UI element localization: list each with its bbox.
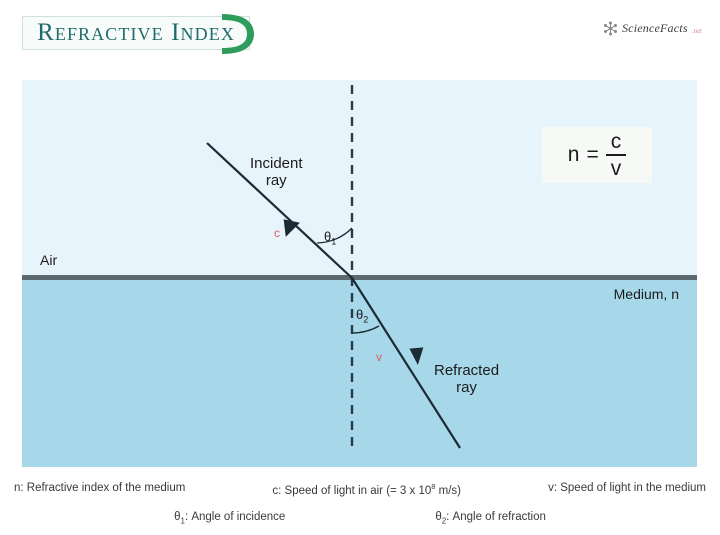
brand-logo[interactable]: ScienceFacts .net bbox=[603, 18, 702, 38]
refraction-diagram: Air Medium, n Incident ray Refracted ray… bbox=[22, 80, 697, 467]
formula-fraction: c v bbox=[606, 131, 627, 180]
molecule-icon bbox=[603, 21, 618, 36]
refracted-ray-arrowhead bbox=[409, 347, 424, 365]
speed-of-light-air-label: c bbox=[274, 226, 280, 240]
brand-name: ScienceFacts bbox=[622, 21, 688, 36]
caption-theta2-definition: θ2: Angle of refraction bbox=[435, 511, 546, 525]
refractive-index-formula: n = c v bbox=[542, 127, 652, 183]
theta2-label: θ2 bbox=[356, 307, 368, 325]
incident-ray-label: Incident ray bbox=[250, 155, 303, 190]
caption-theta2-text: : Angle of refraction bbox=[446, 511, 546, 523]
formula-numerator: c bbox=[606, 131, 627, 152]
theta1-subscript: 1 bbox=[331, 237, 336, 247]
caption-row-definitions: n: Refractive index of the medium c: Spe… bbox=[0, 482, 720, 497]
brand-tld: .net bbox=[692, 27, 702, 35]
caption-theta1-definition: θ1: Angle of incidence bbox=[174, 511, 285, 525]
page-title: Refractive Index bbox=[37, 19, 235, 47]
speed-of-light-medium-label: v bbox=[376, 350, 382, 364]
formula-variable: n bbox=[568, 143, 580, 167]
page-title-banner: Refractive Index bbox=[22, 16, 250, 50]
formula-equals: = bbox=[586, 143, 598, 167]
formula-fraction-bar bbox=[606, 154, 626, 156]
caption-c-definition: c: Speed of light in air (= 3 x 108 m/s) bbox=[272, 482, 461, 497]
formula-denominator: v bbox=[606, 158, 627, 179]
theta2-angle-arc bbox=[352, 326, 379, 333]
caption-n-definition: n: Refractive index of the medium bbox=[14, 482, 185, 497]
caption-theta1-text: : Angle of incidence bbox=[185, 511, 285, 523]
caption-c-definition-pre: c: Speed of light in air (= 3 x 10 bbox=[272, 485, 431, 497]
caption-c-definition-post: m/s) bbox=[435, 485, 461, 497]
caption-v-definition: v: Speed of light in the medium bbox=[548, 482, 706, 497]
caption-block: n: Refractive index of the medium c: Spe… bbox=[0, 482, 720, 525]
refracted-ray-label: Refracted ray bbox=[434, 362, 499, 397]
air-label: Air bbox=[40, 252, 57, 268]
theta2-subscript: 2 bbox=[363, 315, 368, 325]
medium-label: Medium, n bbox=[614, 286, 679, 302]
theta1-label: θ1 bbox=[324, 229, 336, 247]
caption-row-angles: θ1: Angle of incidence θ2: Angle of refr… bbox=[0, 511, 720, 525]
